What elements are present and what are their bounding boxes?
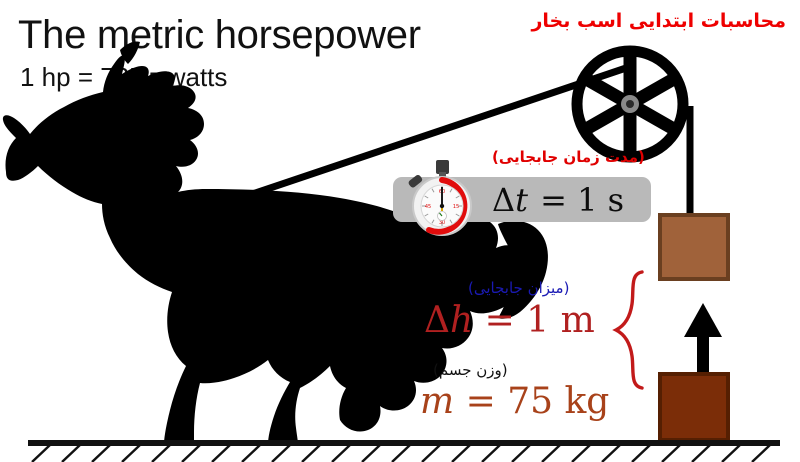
pulley-wheel	[577, 51, 683, 157]
ground-crate	[658, 372, 730, 442]
mass-equation: m = 75 kg	[420, 381, 609, 422]
height-variable: h	[450, 300, 473, 341]
height-equation: Δh = 1 m	[424, 300, 595, 341]
svg-text:45: 45	[425, 204, 431, 210]
time-label-persian: (مدت زمان جابجایی)	[492, 148, 645, 166]
time-value: 1	[577, 181, 597, 219]
mass-unit: kg	[564, 381, 609, 422]
mass-variable: m	[420, 381, 454, 422]
mass-value: 75	[507, 381, 553, 422]
time-equals: =	[540, 181, 567, 219]
curly-brace	[616, 272, 642, 388]
stopwatch-icon: 60 15 30 45	[398, 160, 486, 236]
up-arrow-icon	[684, 303, 722, 372]
time-equation: Δt = 1 s	[492, 177, 652, 222]
height-value: 1	[526, 300, 549, 341]
horsepower-illustration: The metric horsepower 1 hp = 735.5 watts…	[0, 0, 800, 462]
height-equals: =	[485, 300, 515, 341]
ground-hatching	[32, 445, 770, 462]
time-delta-symbol: Δ	[492, 181, 515, 219]
ground-line	[28, 440, 780, 446]
time-unit: s	[608, 181, 624, 219]
time-variable: t	[515, 181, 530, 219]
mass-equals: =	[466, 381, 496, 422]
svg-text:15: 15	[453, 204, 459, 210]
lifted-crate	[658, 213, 730, 281]
height-unit: m	[561, 300, 595, 341]
height-label-persian: (میزان جابجایی)	[468, 279, 569, 297]
mass-label-persian: (وزن جسم)	[433, 361, 508, 379]
height-delta-symbol: Δ	[424, 300, 450, 341]
